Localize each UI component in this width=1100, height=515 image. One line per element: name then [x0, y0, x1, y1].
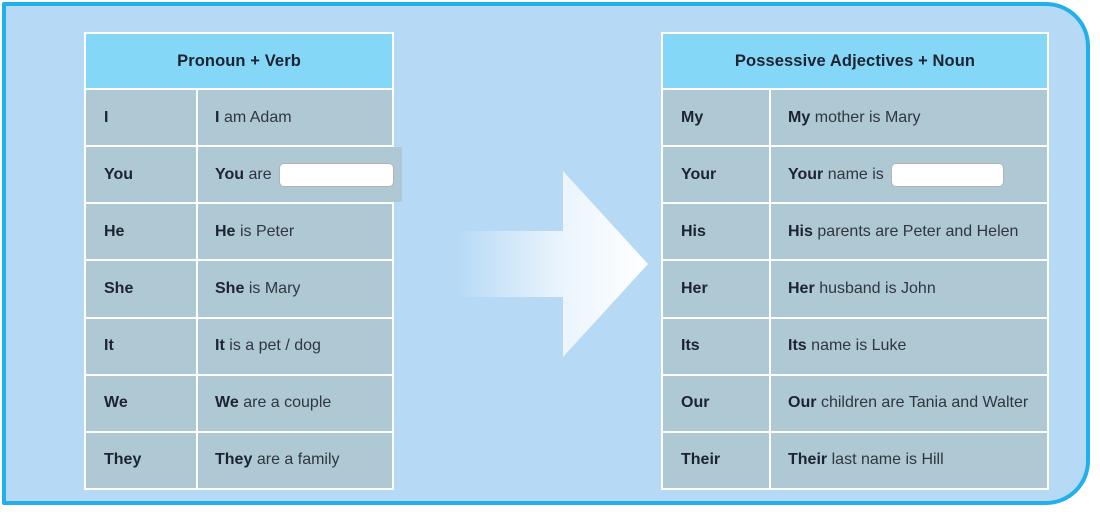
possessive-example-cell: Your name is — [771, 147, 1047, 202]
pronoun-key-cell: You — [86, 147, 196, 202]
example-sentence: You are — [215, 163, 394, 187]
table-row: My My mother is Mary — [663, 90, 1047, 145]
example-sentence: His parents are Peter and Helen — [788, 223, 1018, 241]
sentence-rest: last name is Hill — [832, 451, 944, 469]
table-row: I I am Adam — [86, 90, 392, 145]
pronoun-key-label: I — [104, 109, 108, 127]
pronoun-example-cell: They are a family — [198, 433, 392, 488]
example-sentence: Your name is — [788, 163, 1004, 187]
table-row: She She is Mary — [86, 261, 392, 316]
sentence-possessive: Its — [788, 337, 807, 355]
example-sentence: Its name is Luke — [788, 337, 906, 355]
pronoun-key-label: She — [104, 280, 133, 298]
possessive-key-label: His — [681, 223, 706, 241]
sentence-possessive: Their — [788, 451, 827, 469]
example-sentence: She is Mary — [215, 280, 300, 298]
pronoun-key-label: He — [104, 223, 124, 241]
table-row: You You are — [86, 147, 392, 202]
sentence-rest: am Adam — [224, 109, 292, 127]
fill-in-blank-input[interactable] — [891, 163, 1004, 187]
sentence-rest: husband is John — [819, 280, 936, 298]
table-header-possessive: Possessive Adjectives + Noun — [663, 34, 1047, 88]
sentence-rest: is Mary — [249, 280, 301, 298]
sentence-pronoun: She — [215, 280, 244, 298]
possessive-adjectives-table: Possessive Adjectives + Noun My My mothe… — [661, 32, 1049, 490]
table-row: They They are a family — [86, 433, 392, 488]
sentence-rest: are a family — [257, 451, 340, 469]
possessive-key-label: My — [681, 109, 703, 127]
pronoun-key-cell: It — [86, 319, 196, 374]
sentence-possessive: Her — [788, 280, 815, 298]
pronoun-example-cell: You are — [198, 147, 402, 202]
possessive-example-cell: His parents are Peter and Helen — [771, 204, 1047, 259]
example-sentence: It is a pet / dog — [215, 337, 321, 355]
sentence-rest: parents are Peter and Helen — [817, 223, 1018, 241]
table-row: Its Its name is Luke — [663, 319, 1047, 374]
possessive-key-cell: His — [663, 204, 769, 259]
pronoun-example-cell: I am Adam — [198, 90, 392, 145]
table-row: He He is Peter — [86, 204, 392, 259]
example-sentence: I am Adam — [215, 109, 292, 127]
pronoun-key-cell: He — [86, 204, 196, 259]
table-row: Our Our children are Tania and Walter — [663, 376, 1047, 431]
sentence-rest: is a pet / dog — [229, 337, 321, 355]
pronoun-example-cell: We are a couple — [198, 376, 392, 431]
sentence-possessive: My — [788, 109, 810, 127]
example-sentence: Their last name is Hill — [788, 451, 944, 469]
example-sentence: We are a couple — [215, 394, 331, 412]
possessive-example-cell: Her husband is John — [771, 261, 1047, 316]
sentence-rest: name is — [828, 166, 884, 184]
pronoun-key-label: We — [104, 394, 128, 412]
pronoun-example-cell: She is Mary — [198, 261, 392, 316]
example-sentence: Our children are Tania and Walter — [788, 394, 1028, 412]
table-row: Her Her husband is John — [663, 261, 1047, 316]
sentence-pronoun: He — [215, 223, 235, 241]
sentence-rest: are a couple — [243, 394, 331, 412]
pronoun-example-cell: It is a pet / dog — [198, 319, 392, 374]
sentence-rest: name is Luke — [811, 337, 906, 355]
example-sentence: They are a family — [215, 451, 340, 469]
possessive-key-cell: Our — [663, 376, 769, 431]
possessive-example-cell: Its name is Luke — [771, 319, 1047, 374]
sentence-pronoun: It — [215, 337, 225, 355]
possessive-key-label: Our — [681, 394, 709, 412]
example-sentence: He is Peter — [215, 223, 294, 241]
table-header-pronoun-verb: Pronoun + Verb — [86, 34, 392, 88]
sentence-rest: are — [249, 166, 272, 184]
fill-in-blank-input[interactable] — [279, 163, 394, 187]
possessive-example-cell: Their last name is Hill — [771, 433, 1047, 488]
lesson-panel: Pronoun + Verb I I am Adam You You are — [2, 2, 1090, 505]
table-header-label: Possessive Adjectives + Noun — [735, 52, 975, 71]
sentence-pronoun: They — [215, 451, 252, 469]
pronoun-verb-table: Pronoun + Verb I I am Adam You You are — [84, 32, 394, 490]
possessive-key-label: Your — [681, 166, 716, 184]
possessive-key-cell: Their — [663, 433, 769, 488]
sentence-possessive: His — [788, 223, 813, 241]
sentence-possessive: Our — [788, 394, 816, 412]
possessive-key-cell: Its — [663, 319, 769, 374]
table-header-label: Pronoun + Verb — [177, 52, 301, 71]
right-arrow-icon — [455, 169, 650, 359]
pronoun-key-label: It — [104, 337, 114, 355]
table-row: Their Their last name is Hill — [663, 433, 1047, 488]
table-row: We We are a couple — [86, 376, 392, 431]
sentence-possessive: Your — [788, 166, 823, 184]
possessive-example-cell: My mother is Mary — [771, 90, 1047, 145]
possessive-key-cell: Your — [663, 147, 769, 202]
sentence-pronoun: I — [215, 109, 219, 127]
pronoun-example-cell: He is Peter — [198, 204, 392, 259]
pronoun-key-cell: She — [86, 261, 196, 316]
table-row: It It is a pet / dog — [86, 319, 392, 374]
example-sentence: My mother is Mary — [788, 109, 921, 127]
pronoun-key-label: They — [104, 451, 141, 469]
example-sentence: Her husband is John — [788, 280, 936, 298]
table-row: Your Your name is — [663, 147, 1047, 202]
pronoun-key-cell: I — [86, 90, 196, 145]
table-row: His His parents are Peter and Helen — [663, 204, 1047, 259]
sentence-rest: is Peter — [240, 223, 294, 241]
possessive-key-label: Her — [681, 280, 708, 298]
pronoun-key-label: You — [104, 166, 133, 184]
possessive-key-cell: My — [663, 90, 769, 145]
pronoun-key-cell: We — [86, 376, 196, 431]
possessive-key-label: Their — [681, 451, 720, 469]
sentence-pronoun: You — [215, 166, 244, 184]
possessive-key-label: Its — [681, 337, 700, 355]
sentence-rest: mother is Mary — [815, 109, 921, 127]
possessive-example-cell: Our children are Tania and Walter — [771, 376, 1047, 431]
sentence-rest: children are Tania and Walter — [821, 394, 1028, 412]
sentence-pronoun: We — [215, 394, 239, 412]
pronoun-key-cell: They — [86, 433, 196, 488]
possessive-key-cell: Her — [663, 261, 769, 316]
